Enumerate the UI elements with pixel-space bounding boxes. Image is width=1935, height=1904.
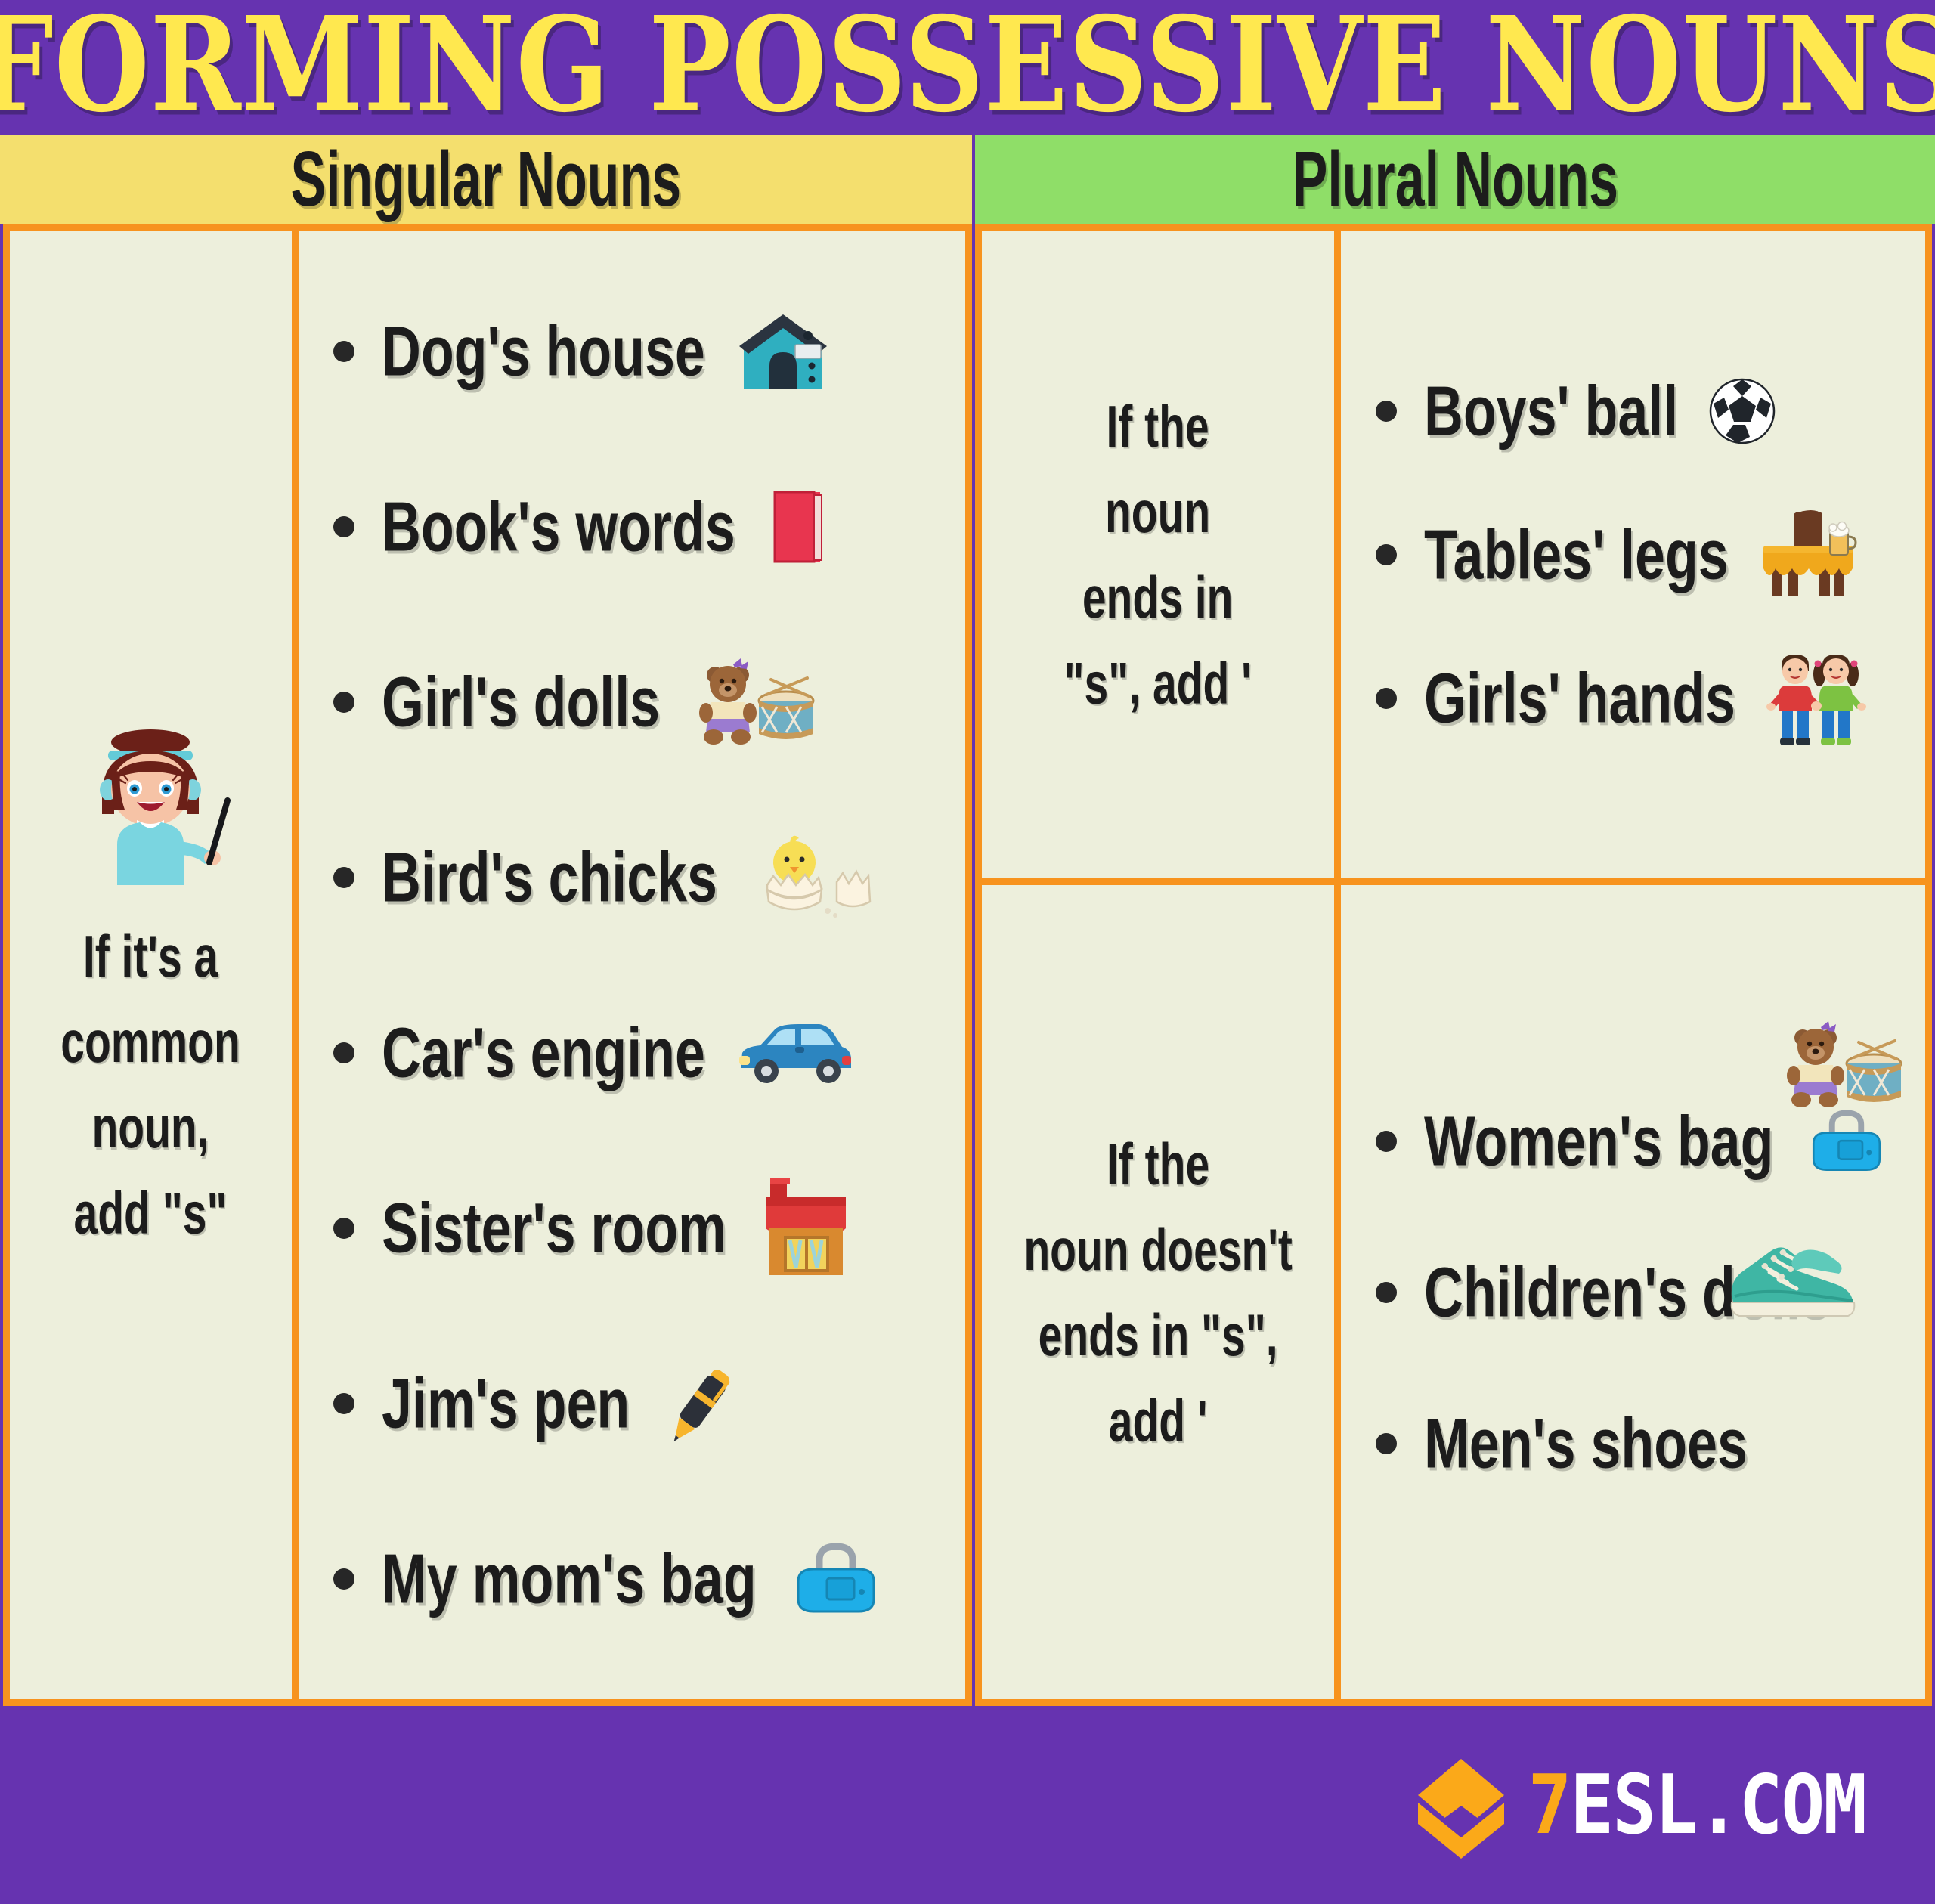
plural-noun-list-1: Boys' ball bbox=[1341, 339, 1925, 770]
item-label: Girl's dolls bbox=[382, 661, 660, 742]
list-item[interactable]: Book's words bbox=[333, 439, 965, 615]
bullet-icon bbox=[333, 1393, 354, 1414]
dog-house-icon bbox=[735, 310, 831, 393]
bullet-icon bbox=[333, 1568, 354, 1590]
list-item[interactable]: Men's shoes bbox=[1376, 1368, 1925, 1519]
singular-column-divider bbox=[292, 231, 299, 1699]
hatching-chick-icon bbox=[748, 832, 876, 923]
7esl-cube-logo-icon bbox=[1404, 1748, 1518, 1862]
item-label: Boys' ball bbox=[1424, 370, 1678, 451]
teacher-pointer-icon bbox=[64, 714, 238, 888]
comparison-table: Singular Nouns Plural Nouns bbox=[0, 135, 1935, 1706]
table-with-beer-icon bbox=[1757, 506, 1869, 603]
logo-wordmark: 7ESL.COM bbox=[1528, 1757, 1865, 1852]
plural-list-cell-2: Women's bag bbox=[1341, 885, 1925, 1699]
two-children-holding-hands-icon bbox=[1765, 649, 1877, 748]
bullet-icon bbox=[1376, 1131, 1397, 1152]
item-label: Jim's pen bbox=[382, 1363, 630, 1444]
teddy-bear-drum-icon bbox=[1776, 1015, 1906, 1115]
list-item[interactable]: Girls' hands bbox=[1376, 627, 1925, 770]
shop-house-icon bbox=[757, 1175, 855, 1281]
blue-handbag-icon bbox=[788, 1539, 884, 1619]
item-label: Men's shoes bbox=[1424, 1403, 1748, 1484]
singular-list-cell: Dog's house bbox=[299, 231, 965, 1699]
header-label-singular: Singular Nouns bbox=[291, 135, 682, 223]
teal-sneaker-icon bbox=[1718, 1227, 1866, 1324]
item-label: My mom's bag bbox=[382, 1538, 757, 1619]
bullet-icon bbox=[333, 516, 354, 537]
logo-domain-text: ESL.COM bbox=[1570, 1757, 1865, 1852]
panel-singular: If it's acommonnoun,add "s" Dog's house bbox=[3, 224, 972, 1706]
header-cell-plural: Plural Nouns bbox=[975, 135, 1935, 224]
item-label: Bird's chicks bbox=[382, 837, 717, 918]
page-title: FORMING POSSESSIVE NOUNS bbox=[0, 1, 1935, 135]
bullet-icon bbox=[333, 1218, 354, 1239]
singular-rule-cell: If it's acommonnoun,add "s" bbox=[10, 231, 292, 1699]
item-label: Book's words bbox=[382, 486, 735, 567]
list-item[interactable]: My mom's bag bbox=[333, 1491, 965, 1667]
plural-rule-text-2: If thenoun doesn'tends in "s",add ' bbox=[1011, 1121, 1305, 1463]
list-item[interactable]: Girl's dolls bbox=[333, 615, 965, 790]
bullet-icon bbox=[333, 692, 354, 713]
bullet-icon bbox=[333, 341, 354, 362]
item-label: Sister's room bbox=[382, 1187, 726, 1268]
table-header-row: Singular Nouns Plural Nouns bbox=[0, 135, 1935, 224]
plural-rule-cell-1: If thenounends in"s", add ' bbox=[982, 231, 1334, 878]
item-label: Tables' legs bbox=[1424, 514, 1729, 595]
plural-rule-text-1: If thenounends in"s", add ' bbox=[1051, 383, 1265, 725]
list-item[interactable]: Car's engine bbox=[333, 965, 965, 1141]
pen-icon bbox=[657, 1355, 746, 1452]
bullet-icon bbox=[333, 1042, 354, 1063]
bullet-icon bbox=[1376, 1433, 1397, 1454]
header-cell-singular: Singular Nouns bbox=[0, 135, 972, 224]
plural-row-divider bbox=[982, 878, 1925, 885]
logo-accent-seven: 7 bbox=[1528, 1757, 1571, 1852]
teddy-bear-drum-icon bbox=[688, 652, 818, 752]
list-item[interactable]: Sister's room bbox=[333, 1141, 965, 1316]
list-item[interactable]: Dog's house bbox=[333, 264, 965, 439]
title-bar: FORMING POSSESSIVE NOUNS bbox=[0, 0, 1935, 135]
list-item[interactable]: Bird's chicks bbox=[333, 790, 965, 965]
item-label: Car's engine bbox=[382, 1012, 705, 1093]
bullet-icon bbox=[1376, 688, 1397, 709]
red-book-icon bbox=[766, 488, 831, 566]
site-logo[interactable]: 7ESL.COM bbox=[1404, 1748, 1865, 1862]
item-label: Women's bag bbox=[1424, 1101, 1773, 1181]
plural-rule-cell-2: If thenoun doesn'tends in "s",add ' bbox=[982, 885, 1334, 1699]
singular-rule-text: If it's acommonnoun,add "s" bbox=[48, 913, 254, 1255]
soccer-ball-icon bbox=[1706, 375, 1779, 447]
footer-bar: 7ESL.COM bbox=[0, 1706, 1935, 1904]
list-item[interactable]: Jim's pen bbox=[333, 1316, 965, 1491]
table-body: If it's acommonnoun,add "s" Dog's house bbox=[0, 224, 1935, 1706]
bullet-icon bbox=[333, 867, 354, 888]
plural-list-cell-1: Boys' ball bbox=[1341, 231, 1925, 878]
item-label: Girls' hands bbox=[1424, 658, 1735, 738]
item-label: Dog's house bbox=[382, 311, 705, 392]
singular-noun-list: Dog's house bbox=[299, 264, 965, 1667]
plural-column-divider bbox=[1334, 231, 1341, 1699]
panel-plural: If thenounends in"s", add ' Boys' ball bbox=[975, 224, 1932, 1706]
bullet-icon bbox=[1376, 401, 1397, 422]
blue-car-icon bbox=[735, 1018, 856, 1088]
list-item[interactable]: Tables' legs bbox=[1376, 483, 1925, 627]
list-item[interactable]: Boys' ball bbox=[1376, 339, 1925, 483]
header-label-plural: Plural Nouns bbox=[1292, 135, 1618, 223]
bullet-icon bbox=[1376, 544, 1397, 565]
blue-handbag-icon bbox=[1804, 1106, 1889, 1177]
poster-root: FORMING POSSESSIVE NOUNS Singular Nouns … bbox=[0, 0, 1935, 1904]
bullet-icon bbox=[1376, 1282, 1397, 1303]
